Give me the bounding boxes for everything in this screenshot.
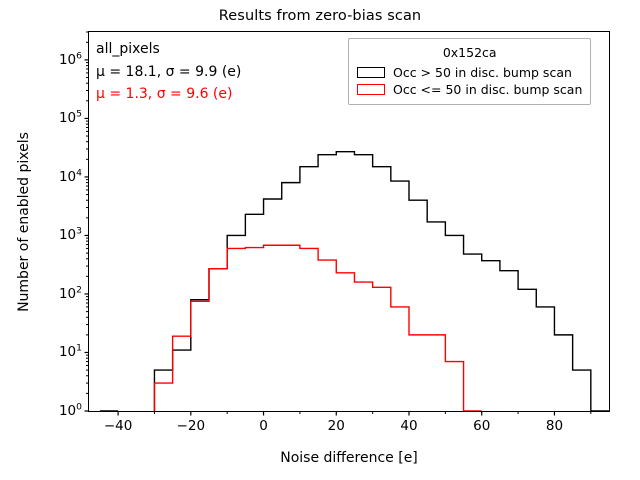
y-axis-label-text: Number of enabled pixels xyxy=(16,132,32,312)
y-tick-label: 100 xyxy=(59,403,82,419)
x-axis-label: Noise difference [e] xyxy=(88,450,610,466)
chart-figure: Results from zero-bias scan Number of en… xyxy=(0,0,640,480)
x-tick-label: 20 xyxy=(328,418,345,434)
legend-title: 0x152ca xyxy=(357,44,582,64)
annotation-pixel-group: all_pixels xyxy=(96,38,336,61)
x-tick-label: 0 xyxy=(259,418,268,434)
legend-swatch-icon-red xyxy=(357,84,385,95)
legend-item-red: Occ <= 50 in disc. bump scan xyxy=(357,81,582,98)
legend-swatch-icon-black xyxy=(357,67,385,78)
page-title: Results from zero-bias scan xyxy=(0,8,640,24)
x-tick-label: −20 xyxy=(177,418,206,434)
y-tick-label: 106 xyxy=(59,52,82,68)
x-tick-label: 80 xyxy=(546,418,563,434)
legend: 0x152ca Occ > 50 in disc. bump scan Occ … xyxy=(348,38,591,105)
histogram-step-red xyxy=(154,245,481,411)
x-tick-label: −40 xyxy=(104,418,133,434)
y-tick-label: 103 xyxy=(59,227,82,243)
annotation-block: all_pixels μ = 18.1, σ = 9.9 (e) μ = 1.3… xyxy=(96,38,336,106)
y-tick-label: 105 xyxy=(59,110,82,126)
x-axis-tick-labels: −40−20020406080 xyxy=(88,418,610,438)
legend-label-red: Occ <= 50 in disc. bump scan xyxy=(393,82,582,97)
legend-item-black: Occ > 50 in disc. bump scan xyxy=(357,64,582,81)
y-axis-label: Number of enabled pixels xyxy=(14,31,34,412)
x-tick-label: 60 xyxy=(473,418,490,434)
x-tick-label: 40 xyxy=(400,418,417,434)
y-tick-label: 104 xyxy=(59,169,82,185)
y-axis-tick-labels: 100101102103104105106 xyxy=(34,31,82,412)
y-tick-label: 102 xyxy=(59,286,82,302)
annotation-stats-red: μ = 1.3, σ = 9.6 (e) xyxy=(96,83,336,106)
y-tick-label: 101 xyxy=(59,344,82,360)
legend-label-black: Occ > 50 in disc. bump scan xyxy=(393,65,572,80)
annotation-stats-black: μ = 18.1, σ = 9.9 (e) xyxy=(96,61,336,84)
